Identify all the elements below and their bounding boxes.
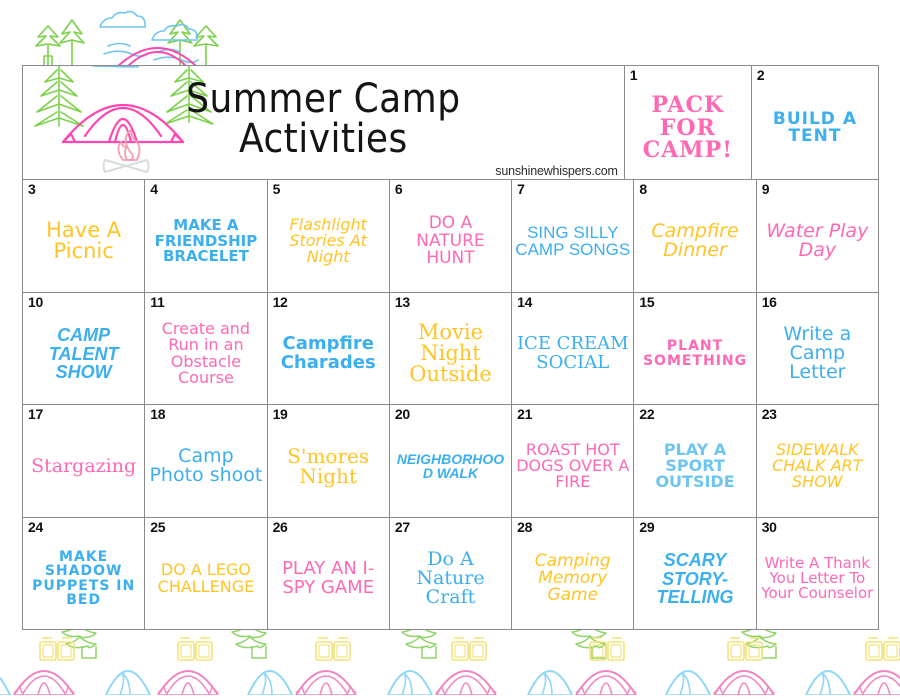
calendar-cell-24[interactable]: 24MAKE SHADOW PUPPETS IN BED <box>23 518 144 630</box>
calendar-cell-30[interactable]: 30Write A Thank You Letter To Your Couns… <box>756 518 878 630</box>
calendar-row-4: 17Stargazing 18Camp Photo shoot 19S'more… <box>23 404 878 517</box>
activity-text: Write A Thank You Letter To Your Counsel… <box>760 544 875 602</box>
calendar-cell-17[interactable]: 17Stargazing <box>23 405 144 517</box>
day-number: 6 <box>395 181 403 198</box>
activity-text: BUILD A TENT <box>755 99 875 146</box>
calendar-cell-14[interactable]: 14ICE CREAM SOCIAL <box>511 293 633 405</box>
day-number: 5 <box>273 181 281 198</box>
day-number: 7 <box>517 181 525 198</box>
activity-text: Campfire Charades <box>271 323 386 372</box>
day-number: 21 <box>517 406 532 423</box>
day-number: 8 <box>639 181 647 198</box>
calendar-cell-9[interactable]: 9Water Play Day <box>756 180 878 292</box>
calendar-cell-26[interactable]: 26PLAY AN I-SPY GAME <box>267 518 389 630</box>
day-number: 10 <box>28 294 43 311</box>
calendar-cell-11[interactable]: 11Create and Run in an Obstacle Course <box>144 293 266 405</box>
tree-icon <box>194 26 218 66</box>
day-number: 18 <box>150 406 165 423</box>
activity-text: Write a Camp Letter <box>760 313 875 383</box>
calendar-row-3: 10CAMP TALENT SHOW 11Create and Run in a… <box>23 292 878 405</box>
log-icon <box>104 160 149 172</box>
calendar-header-row: Summer Camp Activities sunshinewhispers.… <box>23 66 878 179</box>
activity-text: Movie Night Outside <box>393 310 508 386</box>
calendar-cell-6[interactable]: 6DO A NATURE HUNT <box>389 180 511 292</box>
wind-icon <box>154 50 198 63</box>
day-number: 25 <box>150 519 165 536</box>
calendar-cell-8[interactable]: 8Campfire Dinner <box>633 180 755 292</box>
activity-text: Create and Run in an Obstacle Course <box>148 309 263 386</box>
wind-icon <box>104 44 148 57</box>
activity-text: MAKE SHADOW PUPPETS IN BED <box>26 538 141 607</box>
day-number: 28 <box>517 519 532 536</box>
calendar-cell-13[interactable]: 13Movie Night Outside <box>389 293 511 405</box>
calendar-cell-27[interactable]: 27Do A Nature Craft <box>389 518 511 630</box>
day-number: 3 <box>28 181 36 198</box>
activity-text: S'mores Night <box>271 434 386 487</box>
calendar-cell-1[interactable]: 1 PACK FOR CAMP! <box>624 66 751 179</box>
calendar-cell-10[interactable]: 10CAMP TALENT SHOW <box>23 293 144 405</box>
activity-text: Have A Picnic <box>26 208 141 263</box>
activity-text: Campfire Dinner <box>637 210 752 261</box>
calendar-cell-25[interactable]: 25DO A LEGO CHALLENGE <box>144 518 266 630</box>
activity-text: PLAY AN I-SPY GAME <box>271 548 386 597</box>
day-number: 11 <box>150 294 164 311</box>
day-number: 16 <box>762 294 777 311</box>
calendar-cell-16[interactable]: 16Write a Camp Letter <box>756 293 878 405</box>
calendar-cell-12[interactable]: 12Campfire Charades <box>267 293 389 405</box>
tree-icon <box>60 20 84 66</box>
activity-text: PLAY A SPORT OUTSIDE <box>637 430 752 491</box>
activity-text: Camping Memory Game <box>515 541 630 605</box>
day-number: 1 <box>630 67 638 84</box>
calendar-cell-15[interactable]: 15PLANT SOMETHING <box>633 293 755 405</box>
calendar-cell-5[interactable]: 5Flashlight Stories At Night <box>267 180 389 292</box>
day-number: 23 <box>762 406 777 423</box>
calendar-cell-2[interactable]: 2 BUILD A TENT <box>751 66 878 179</box>
calendar-cell-4[interactable]: 4MAKE A FRIENDSHIP BRACELET <box>144 180 266 292</box>
day-number: 13 <box>395 294 410 311</box>
day-number: 19 <box>273 406 288 423</box>
day-number: 17 <box>28 406 43 423</box>
bottom-decor-svg <box>0 630 900 695</box>
activity-text: Water Play Day <box>760 210 875 261</box>
calendar-cell-7[interactable]: 7SING SILLY CAMP SONGS <box>511 180 633 292</box>
top-decor-svg <box>0 0 900 66</box>
day-number: 26 <box>273 519 288 536</box>
tree-icon <box>168 20 192 66</box>
top-decoration-band <box>0 0 900 66</box>
day-number: 14 <box>517 294 532 311</box>
day-number: 22 <box>639 406 654 423</box>
activity-text: SING SILLY CAMP SONGS <box>515 212 630 259</box>
calendar-cell-28[interactable]: 28Camping Memory Game <box>511 518 633 630</box>
activity-text: Stargazing <box>26 445 141 476</box>
calendar-cell-23[interactable]: 23SIDEWALK CHALK ART SHOW <box>756 405 878 517</box>
activity-text: ROAST HOT DOGS OVER A FIRE <box>515 430 630 491</box>
watermark: sunshinewhispers.com <box>495 164 617 178</box>
activity-text: DO A LEGO CHALLENGE <box>148 550 263 595</box>
cloud-icon <box>100 12 145 27</box>
activity-calendar: Summer Camp Activities sunshinewhispers.… <box>22 65 879 630</box>
day-number: 20 <box>395 406 410 423</box>
activity-text: SIDEWALK CHALK ART SHOW <box>760 430 875 491</box>
activity-text: CAMP TALENT SHOW <box>26 314 141 381</box>
day-number: 30 <box>762 519 777 536</box>
activity-text: PLANT SOMETHING <box>637 327 752 368</box>
page-title: Summer Camp Activities <box>186 80 460 158</box>
cloud-icon <box>152 25 197 40</box>
activity-text: SCARY STORY- TELLING <box>637 539 752 606</box>
activity-text: DO A NATURE HUNT <box>393 203 508 267</box>
title-line-2: Activities <box>186 120 460 159</box>
cloud-icon <box>93 66 138 67</box>
activity-text: Do A Nature Craft <box>393 538 508 608</box>
tent-icon <box>118 48 196 66</box>
activity-text: PACK FOR CAMP! <box>628 82 748 161</box>
activity-text: Camp Photo shoot <box>148 435 263 486</box>
calendar-cell-29[interactable]: 29SCARY STORY- TELLING <box>633 518 755 630</box>
calendar-cell-3[interactable]: 3Have A Picnic <box>23 180 144 292</box>
tree-icon <box>36 26 60 66</box>
activity-text: ICE CREAM SOCIAL <box>515 323 630 372</box>
bottom-decoration-band <box>0 630 900 695</box>
calendar-row-2: 3Have A Picnic 4MAKE A FRIENDSHIP BRACEL… <box>23 179 878 292</box>
tree-icon <box>35 66 83 126</box>
day-number: 29 <box>639 519 654 536</box>
calendar-row-5: 24MAKE SHADOW PUPPETS IN BED 25DO A LEGO… <box>23 517 878 630</box>
tent-icon <box>63 105 183 142</box>
day-number: 2 <box>757 67 765 84</box>
title-cell: Summer Camp Activities sunshinewhispers.… <box>23 66 624 179</box>
activity-text: NEIGHBORHOOD WALK <box>393 440 508 481</box>
day-number: 24 <box>28 519 43 536</box>
calendar-cell-21[interactable]: 21ROAST HOT DOGS OVER A FIRE <box>511 405 633 517</box>
activity-text: MAKE A FRIENDSHIP BRACELET <box>148 206 263 264</box>
day-number: 27 <box>395 519 410 536</box>
day-number: 12 <box>273 294 288 311</box>
activity-text: Flashlight Stories At Night <box>271 205 386 266</box>
day-number: 4 <box>150 181 158 198</box>
calendar-cell-22[interactable]: 22PLAY A SPORT OUTSIDE <box>633 405 755 517</box>
calendar-cell-19[interactable]: 19S'mores Night <box>267 405 389 517</box>
day-number: 15 <box>639 294 654 311</box>
calendar-cell-20[interactable]: 20NEIGHBORHOOD WALK <box>389 405 511 517</box>
day-number: 9 <box>762 181 770 198</box>
calendar-cell-18[interactable]: 18Camp Photo shoot <box>144 405 266 517</box>
